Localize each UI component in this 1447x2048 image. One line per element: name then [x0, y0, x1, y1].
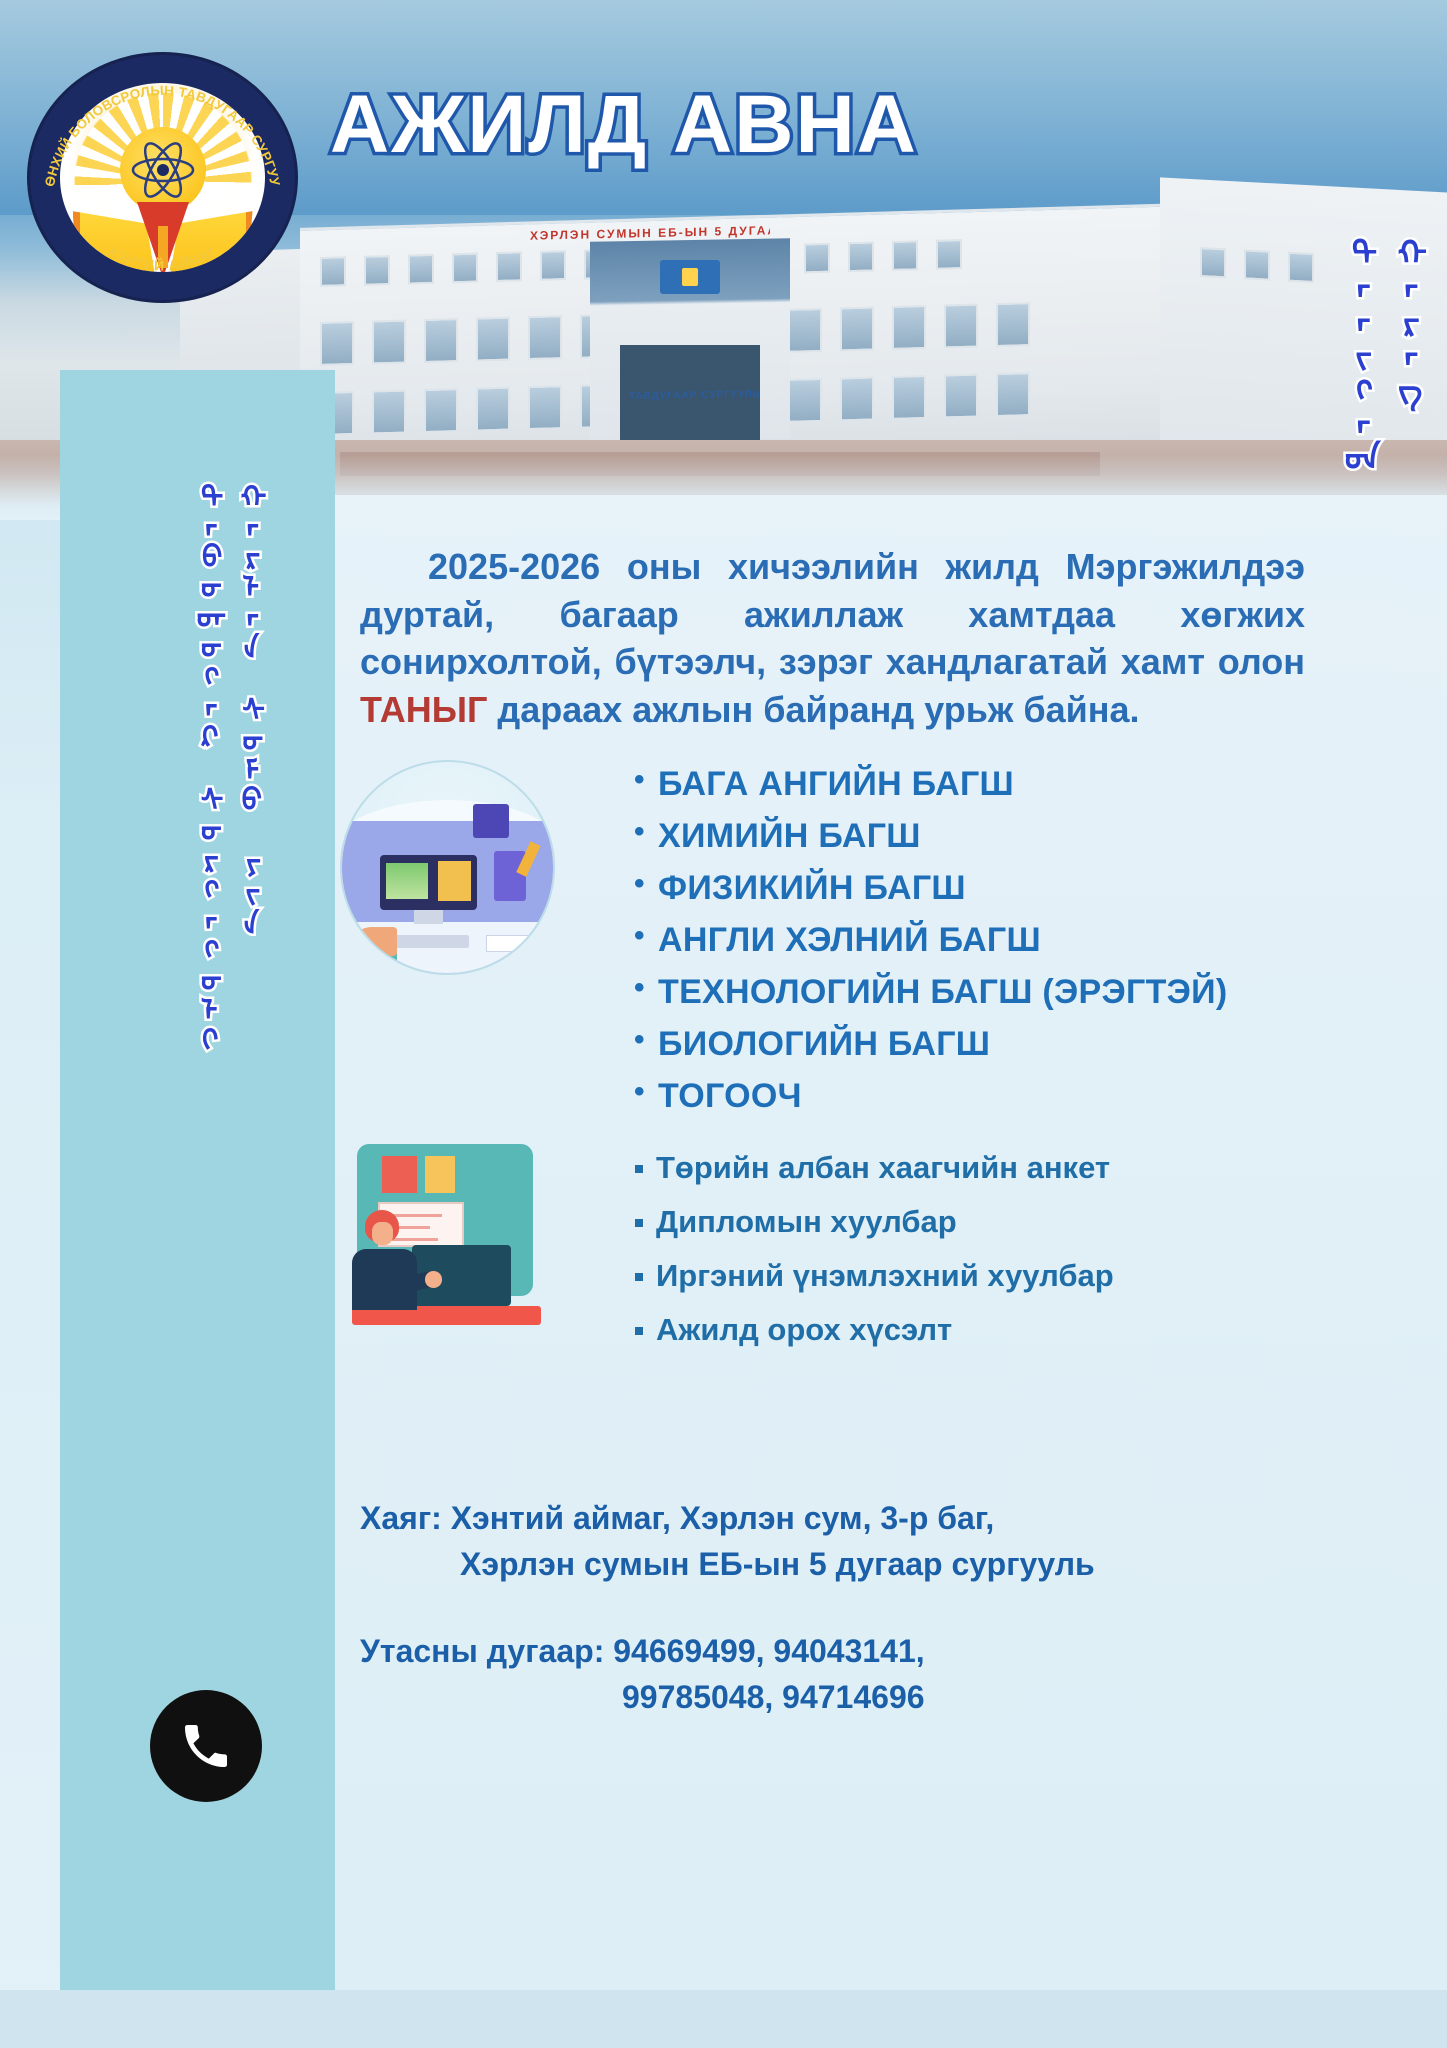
- book-icon: [486, 935, 532, 952]
- building-sign-blue: ТАВДУГААР СУРГУУЛЬ: [600, 388, 790, 407]
- page-title: АЖИЛД АВНА: [330, 78, 918, 172]
- phone-block: Утасны дугаар: 94669499, 94043141, 99785…: [360, 1628, 1420, 1721]
- school-logo: ЕРӨНХИЙ БОЛОВСРОЛЫН ТАВДУГААР СУРГУУЛЬ Х…: [30, 55, 295, 300]
- yellow-folder-icon: [425, 1156, 455, 1193]
- list-item: Ажилд орох хүсэлт: [630, 1312, 1447, 1348]
- mongolian-script-right-col-1: ᠬᠡᠷᠡᠭ: [1383, 235, 1419, 1035]
- contact-block: Хаяг: Хэнтий аймаг, Хэрлэн сум, 3-р баг,…: [360, 1495, 1420, 1721]
- mongolian-script-left-col-1: ᠬᠡᠷᠯᠡᠨ ᠰᠤᠮᠤ ᠶᠢᠨ: [229, 480, 261, 1480]
- list-item: ТОГООЧ: [630, 1077, 1430, 1116]
- mongolian-script-left: ᠬᠡᠷᠯᠡᠨ ᠰᠤᠮᠤ ᠶᠢᠨ ᠲᠠᠪᠤᠳᠤᠭᠠᠷ ᠰᠤᠷᠭᠠᠭᠤᠯᠢ: [95, 480, 260, 1480]
- screen-card-icon: [473, 804, 509, 838]
- logo-ring-text: ЕРӨНХИЙ БОЛОВСРОЛЫН ТАВДУГААР СУРГУУЛЬ Х…: [30, 55, 295, 300]
- list-item: Төрийн албан хаагчийн анкет: [630, 1150, 1447, 1186]
- poster-root: ХЭРЛЭН СУМЫН ЕБ-ЫН 5 ДУГААР СУРГУУЛЬ ТАВ…: [0, 0, 1447, 2048]
- phone-icon: [150, 1690, 262, 1802]
- svg-text:ХЭНТИЙ АЙМАГ: ХЭНТИЙ АЙМАГ: [105, 243, 221, 274]
- office-worker-illustration: [335, 1140, 550, 1345]
- mongolian-script-right-col-2: ᠲᠠᠨᠢᠭ᠋ᠠᠳ: [1336, 235, 1372, 1035]
- address-block: Хаяг: Хэнтий аймаг, Хэрлэн сум, 3-р баг,…: [360, 1495, 1420, 1588]
- phone-line-2: 99785048, 94714696: [360, 1674, 1420, 1720]
- phone-label: Утасны дугаар:: [360, 1633, 604, 1669]
- monitor-icon: [380, 855, 477, 910]
- red-folder-icon: [382, 1156, 416, 1193]
- svg-text:ЕРӨНХИЙ БОЛОВСРОЛЫН ТАВДУГААР: ЕРӨНХИЙ БОЛОВСРОЛЫН ТАВДУГААР СУРГУУЛЬ: [30, 55, 283, 188]
- phone-handset-icon: [178, 1718, 234, 1774]
- lead-part-1: 2025-2026 оны хичээлийн жилд Мэргэжилдээ…: [360, 546, 1305, 682]
- required-documents-list: Төрийн албан хаагчийн анкет Дипломын хуу…: [630, 1150, 1447, 1366]
- bottom-strip: [0, 1990, 1447, 2048]
- mongolian-script-left-col-2: ᠲᠠᠪᠤᠳᠤᠭᠠᠷ ᠰᠤᠷᠭᠠᠭᠤᠯᠢ: [187, 480, 219, 1480]
- lead-part-2: дараах ажлын байранд урьж байна.: [487, 689, 1139, 730]
- list-item: Дипломын хуулбар: [630, 1204, 1447, 1240]
- note-card-icon: [494, 851, 526, 902]
- address-line-1: Хэнтий аймаг, Хэрлэн сум, 3-р баг,: [451, 1500, 995, 1536]
- lead-paragraph: 2025-2026 оны хичээлийн жилд Мэргэжилдээ…: [360, 543, 1305, 733]
- computer-illustration: [340, 760, 555, 975]
- mongolian-script-right: ᠬᠡᠷᠡᠭ ᠲᠠᠨᠢᠭ᠋ᠠᠳ: [1269, 235, 1419, 1035]
- building-emblem: [660, 260, 720, 294]
- address-label: Хаяг:: [360, 1500, 442, 1536]
- lead-highlight: ТАНЫГ: [360, 689, 487, 730]
- address-line-2: Хэрлэн сумын ЕБ-ын 5 дугаар сургууль: [360, 1541, 1420, 1587]
- list-item: Иргэний үнэмлэхний хуулбар: [630, 1258, 1447, 1294]
- phone-line-1: 94669499, 94043141,: [613, 1633, 924, 1669]
